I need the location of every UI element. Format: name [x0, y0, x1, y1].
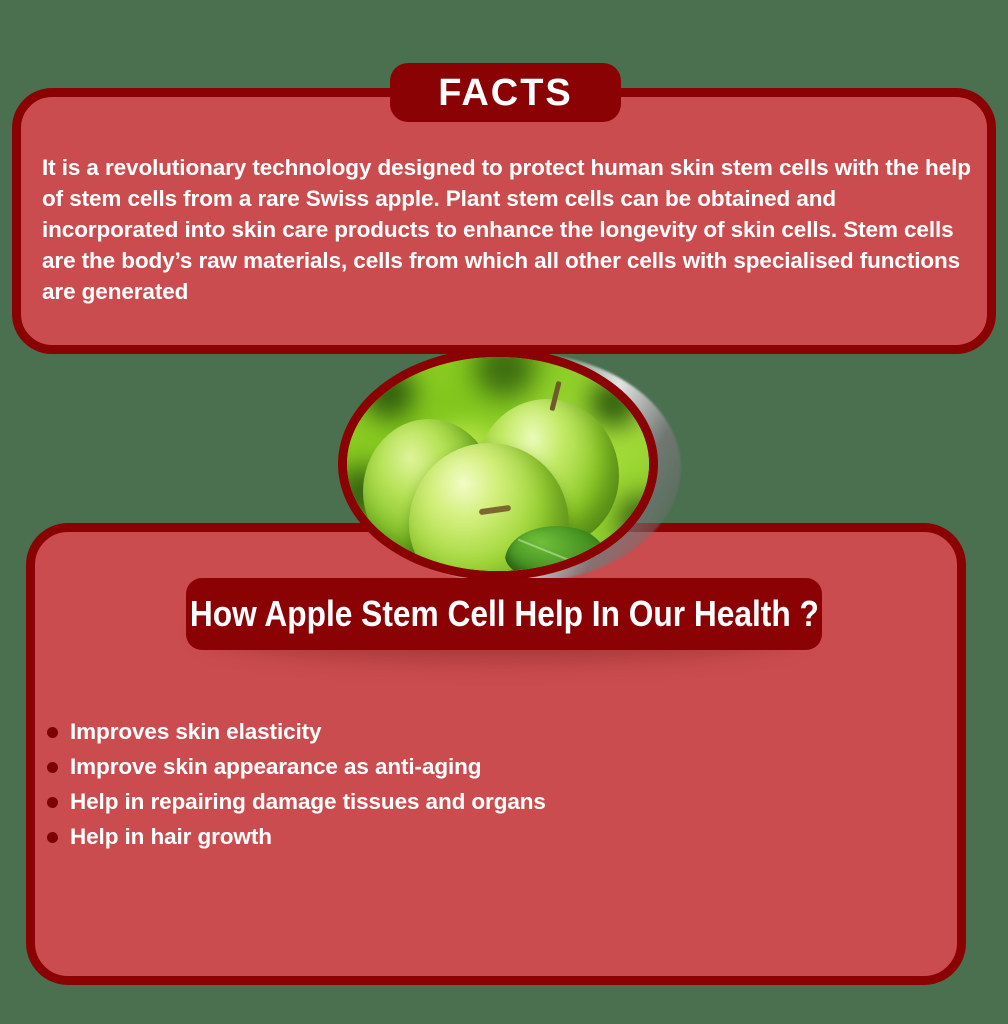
bullet-dot-icon [47, 727, 58, 738]
list-item: Help in hair growth [44, 819, 744, 854]
list-item: Improve skin appearance as anti-aging [44, 749, 744, 784]
facts-banner-label: FACTS [438, 74, 573, 112]
green-apples-photo [338, 348, 658, 580]
list-item: Improves skin elasticity [44, 714, 744, 749]
leaf-vein [518, 539, 600, 574]
list-item-label: Improve skin appearance as anti-aging [70, 754, 481, 779]
bullet-dot-icon [47, 832, 58, 843]
health-title-banner: How Apple Stem Cell Help In Our Health ? [186, 578, 822, 650]
facts-body-text: It is a revolutionary technology designe… [42, 152, 972, 307]
list-item-label: Help in hair growth [70, 824, 272, 849]
health-title-label: How Apple Stem Cell Help In Our Health ? [190, 596, 819, 632]
list-item-label: Improves skin elasticity [70, 719, 321, 744]
infographic-stage: It is a revolutionary technology designe… [0, 0, 1008, 1024]
list-item: Help in repairing damage tissues and org… [44, 784, 744, 819]
bullet-dot-icon [47, 762, 58, 773]
benefits-list: Improves skin elasticity Improve skin ap… [44, 714, 744, 854]
facts-banner: FACTS [390, 63, 621, 122]
list-item-label: Help in repairing damage tissues and org… [70, 789, 546, 814]
bullet-dot-icon [47, 797, 58, 808]
